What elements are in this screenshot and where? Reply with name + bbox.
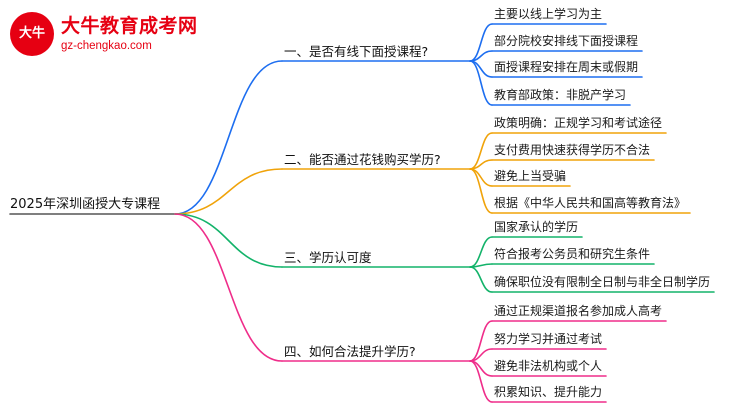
- mindmap-branch-1[interactable]: 一、是否有线下面授课程?: [284, 44, 428, 59]
- mindmap-leaf-1-3[interactable]: 面授课程安排在周末或假期: [494, 60, 638, 74]
- mindmap-leaf-1-2[interactable]: 部分院校安排线下面授课程: [494, 34, 638, 48]
- mindmap-leaf-4-1[interactable]: 通过正规渠道报名参加成人高考: [494, 304, 662, 318]
- mindmap-leaf-3-3[interactable]: 确保职位没有限制全日制与非全日制学历: [494, 275, 710, 289]
- logo-subtitle: gz-chengkao.com: [61, 40, 198, 53]
- mindmap-leaf-4-3[interactable]: 避免非法机构或个人: [494, 359, 602, 373]
- mindmap-leaf-4-4[interactable]: 积累知识、提升能力: [494, 385, 602, 399]
- logo-text: 大牛教育成考网 gz-chengkao.com: [61, 16, 198, 53]
- logo-mark-glyph: 大牛: [19, 27, 45, 41]
- mindmap-leaf-1-1[interactable]: 主要以线上学习为主: [494, 7, 602, 21]
- mindmap-leaf-2-3[interactable]: 避免上当受骗: [494, 169, 566, 183]
- mindmap-root-node: 2025年深圳函授大专课程: [10, 197, 160, 213]
- logo-title: 大牛教育成考网: [61, 16, 198, 37]
- mindmap-leaf-4-2[interactable]: 努力学习并通过考试: [494, 332, 602, 346]
- mindmap-leaf-1-4[interactable]: 教育部政策：非脱产学习: [494, 88, 626, 102]
- mindmap-branch-3[interactable]: 三、学历认可度: [284, 250, 372, 265]
- mindmap-leaf-2-4[interactable]: 根据《中华人民共和国高等教育法》: [494, 196, 686, 210]
- site-logo: 大牛 大牛教育成考网 gz-chengkao.com: [10, 8, 200, 60]
- mindmap-leaf-3-1[interactable]: 国家承认的学历: [494, 220, 578, 234]
- logo-mark-icon: 大牛: [10, 12, 54, 56]
- mindmap-leaf-3-2[interactable]: 符合报考公务员和研究生条件: [494, 247, 650, 261]
- mindmap-branch-2[interactable]: 二、能否通过花钱购买学历?: [284, 152, 441, 167]
- mindmap-leaf-2-2[interactable]: 支付费用快速获得学历不合法: [494, 143, 650, 157]
- mindmap-branch-4[interactable]: 四、如何合法提升学历?: [284, 344, 416, 359]
- mindmap-leaf-2-1[interactable]: 政策明确：正规学习和考试途径: [494, 116, 662, 130]
